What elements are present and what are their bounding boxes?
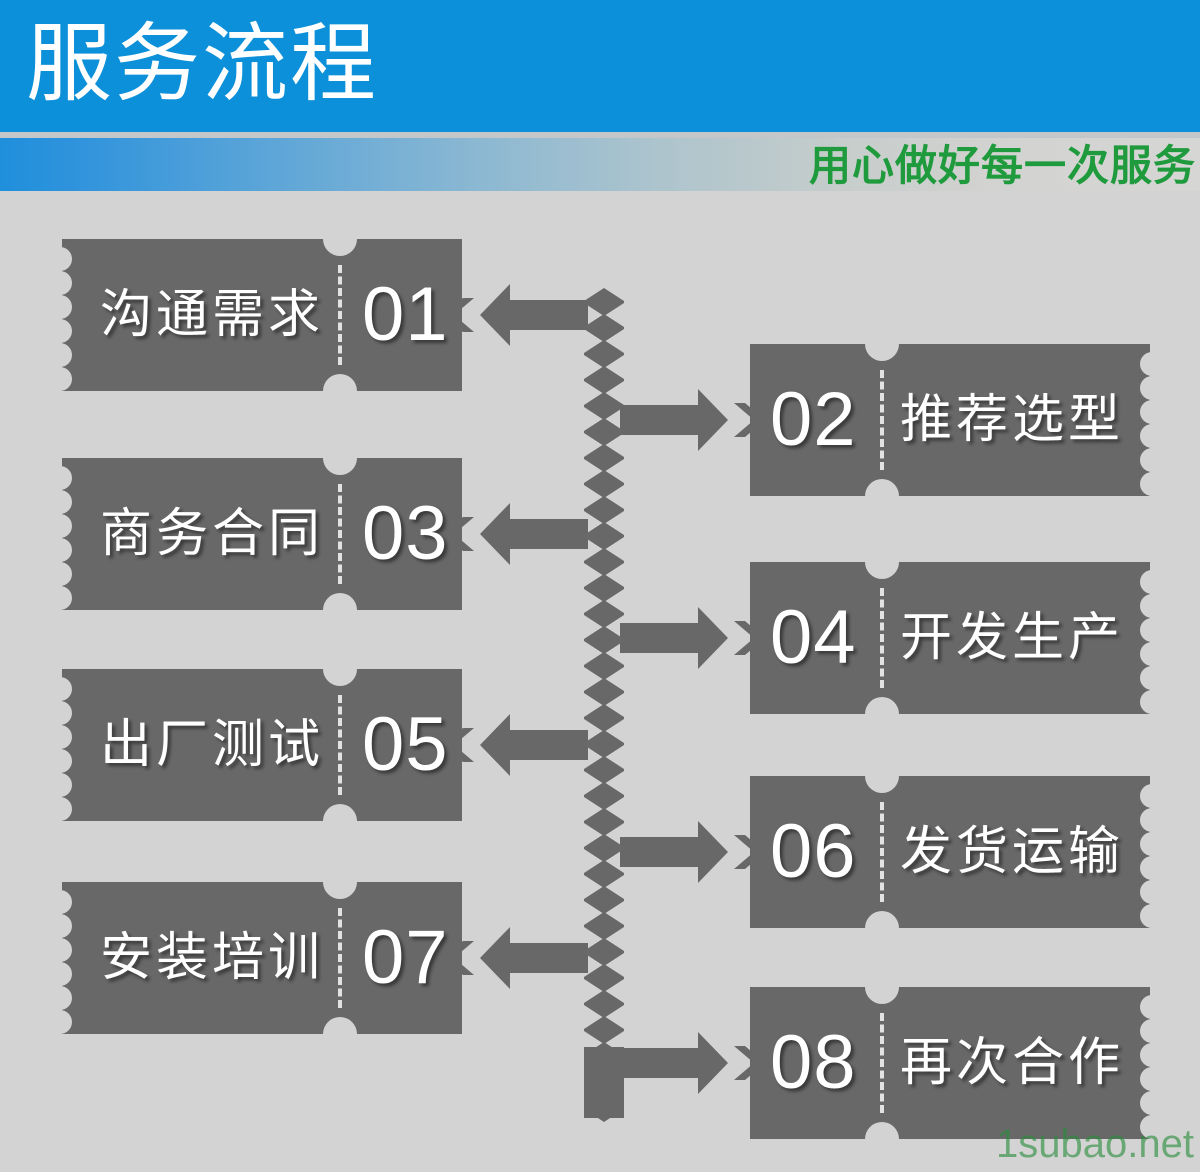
ticket-face: 08再次合作 <box>750 987 1150 1139</box>
service-flow-infographic: 服务流程 用心做好每一次服务 沟通需求0102推荐选型商务合同0304开发生产出… <box>0 0 1200 1172</box>
ticket-step-04[interactable]: 04开发生产 <box>750 562 1150 714</box>
ticket-face: 安装培训07 <box>62 882 462 1034</box>
tagline: 用心做好每一次服务 <box>809 141 1196 191</box>
ticket-number: 07 <box>362 918 449 998</box>
ticket-face: 04开发生产 <box>750 562 1150 714</box>
ticket-number: 03 <box>362 494 449 574</box>
ticket-step-06[interactable]: 06发货运输 <box>750 776 1150 928</box>
ticket-face: 出厂测试05 <box>62 669 462 821</box>
ticket-label: 商务合同 <box>100 506 324 562</box>
ticket-step-02[interactable]: 02推荐选型 <box>750 344 1150 496</box>
ticket-number: 08 <box>770 1023 857 1103</box>
ticket-step-03[interactable]: 商务合同03 <box>62 458 462 610</box>
ticket-number: 02 <box>770 380 857 460</box>
ticket-step-07[interactable]: 安装培训07 <box>62 882 462 1034</box>
chevron-spine <box>584 288 624 1122</box>
page-title: 服务流程 <box>26 8 378 120</box>
ticket-label: 开发生产 <box>900 610 1124 666</box>
ticket-number: 01 <box>362 275 449 355</box>
ticket-number: 06 <box>770 812 857 892</box>
ticket-step-05[interactable]: 出厂测试05 <box>62 669 462 821</box>
ticket-label: 推荐选型 <box>900 392 1124 448</box>
watermark: 1subao.net <box>996 1122 1194 1166</box>
ticket-label: 安装培训 <box>100 930 324 986</box>
ticket-label: 再次合作 <box>900 1035 1124 1091</box>
ticket-label: 沟通需求 <box>100 287 324 343</box>
ticket-step-08[interactable]: 08再次合作 <box>750 987 1150 1139</box>
ticket-step-01[interactable]: 沟通需求01 <box>62 239 462 391</box>
ticket-number: 04 <box>770 598 857 678</box>
ticket-face: 商务合同03 <box>62 458 462 610</box>
ticket-label: 发货运输 <box>900 824 1124 880</box>
ticket-face: 02推荐选型 <box>750 344 1150 496</box>
ticket-number: 05 <box>362 705 449 785</box>
ticket-label: 出厂测试 <box>100 717 324 773</box>
ticket-face: 沟通需求01 <box>62 239 462 391</box>
ticket-face: 06发货运输 <box>750 776 1150 928</box>
